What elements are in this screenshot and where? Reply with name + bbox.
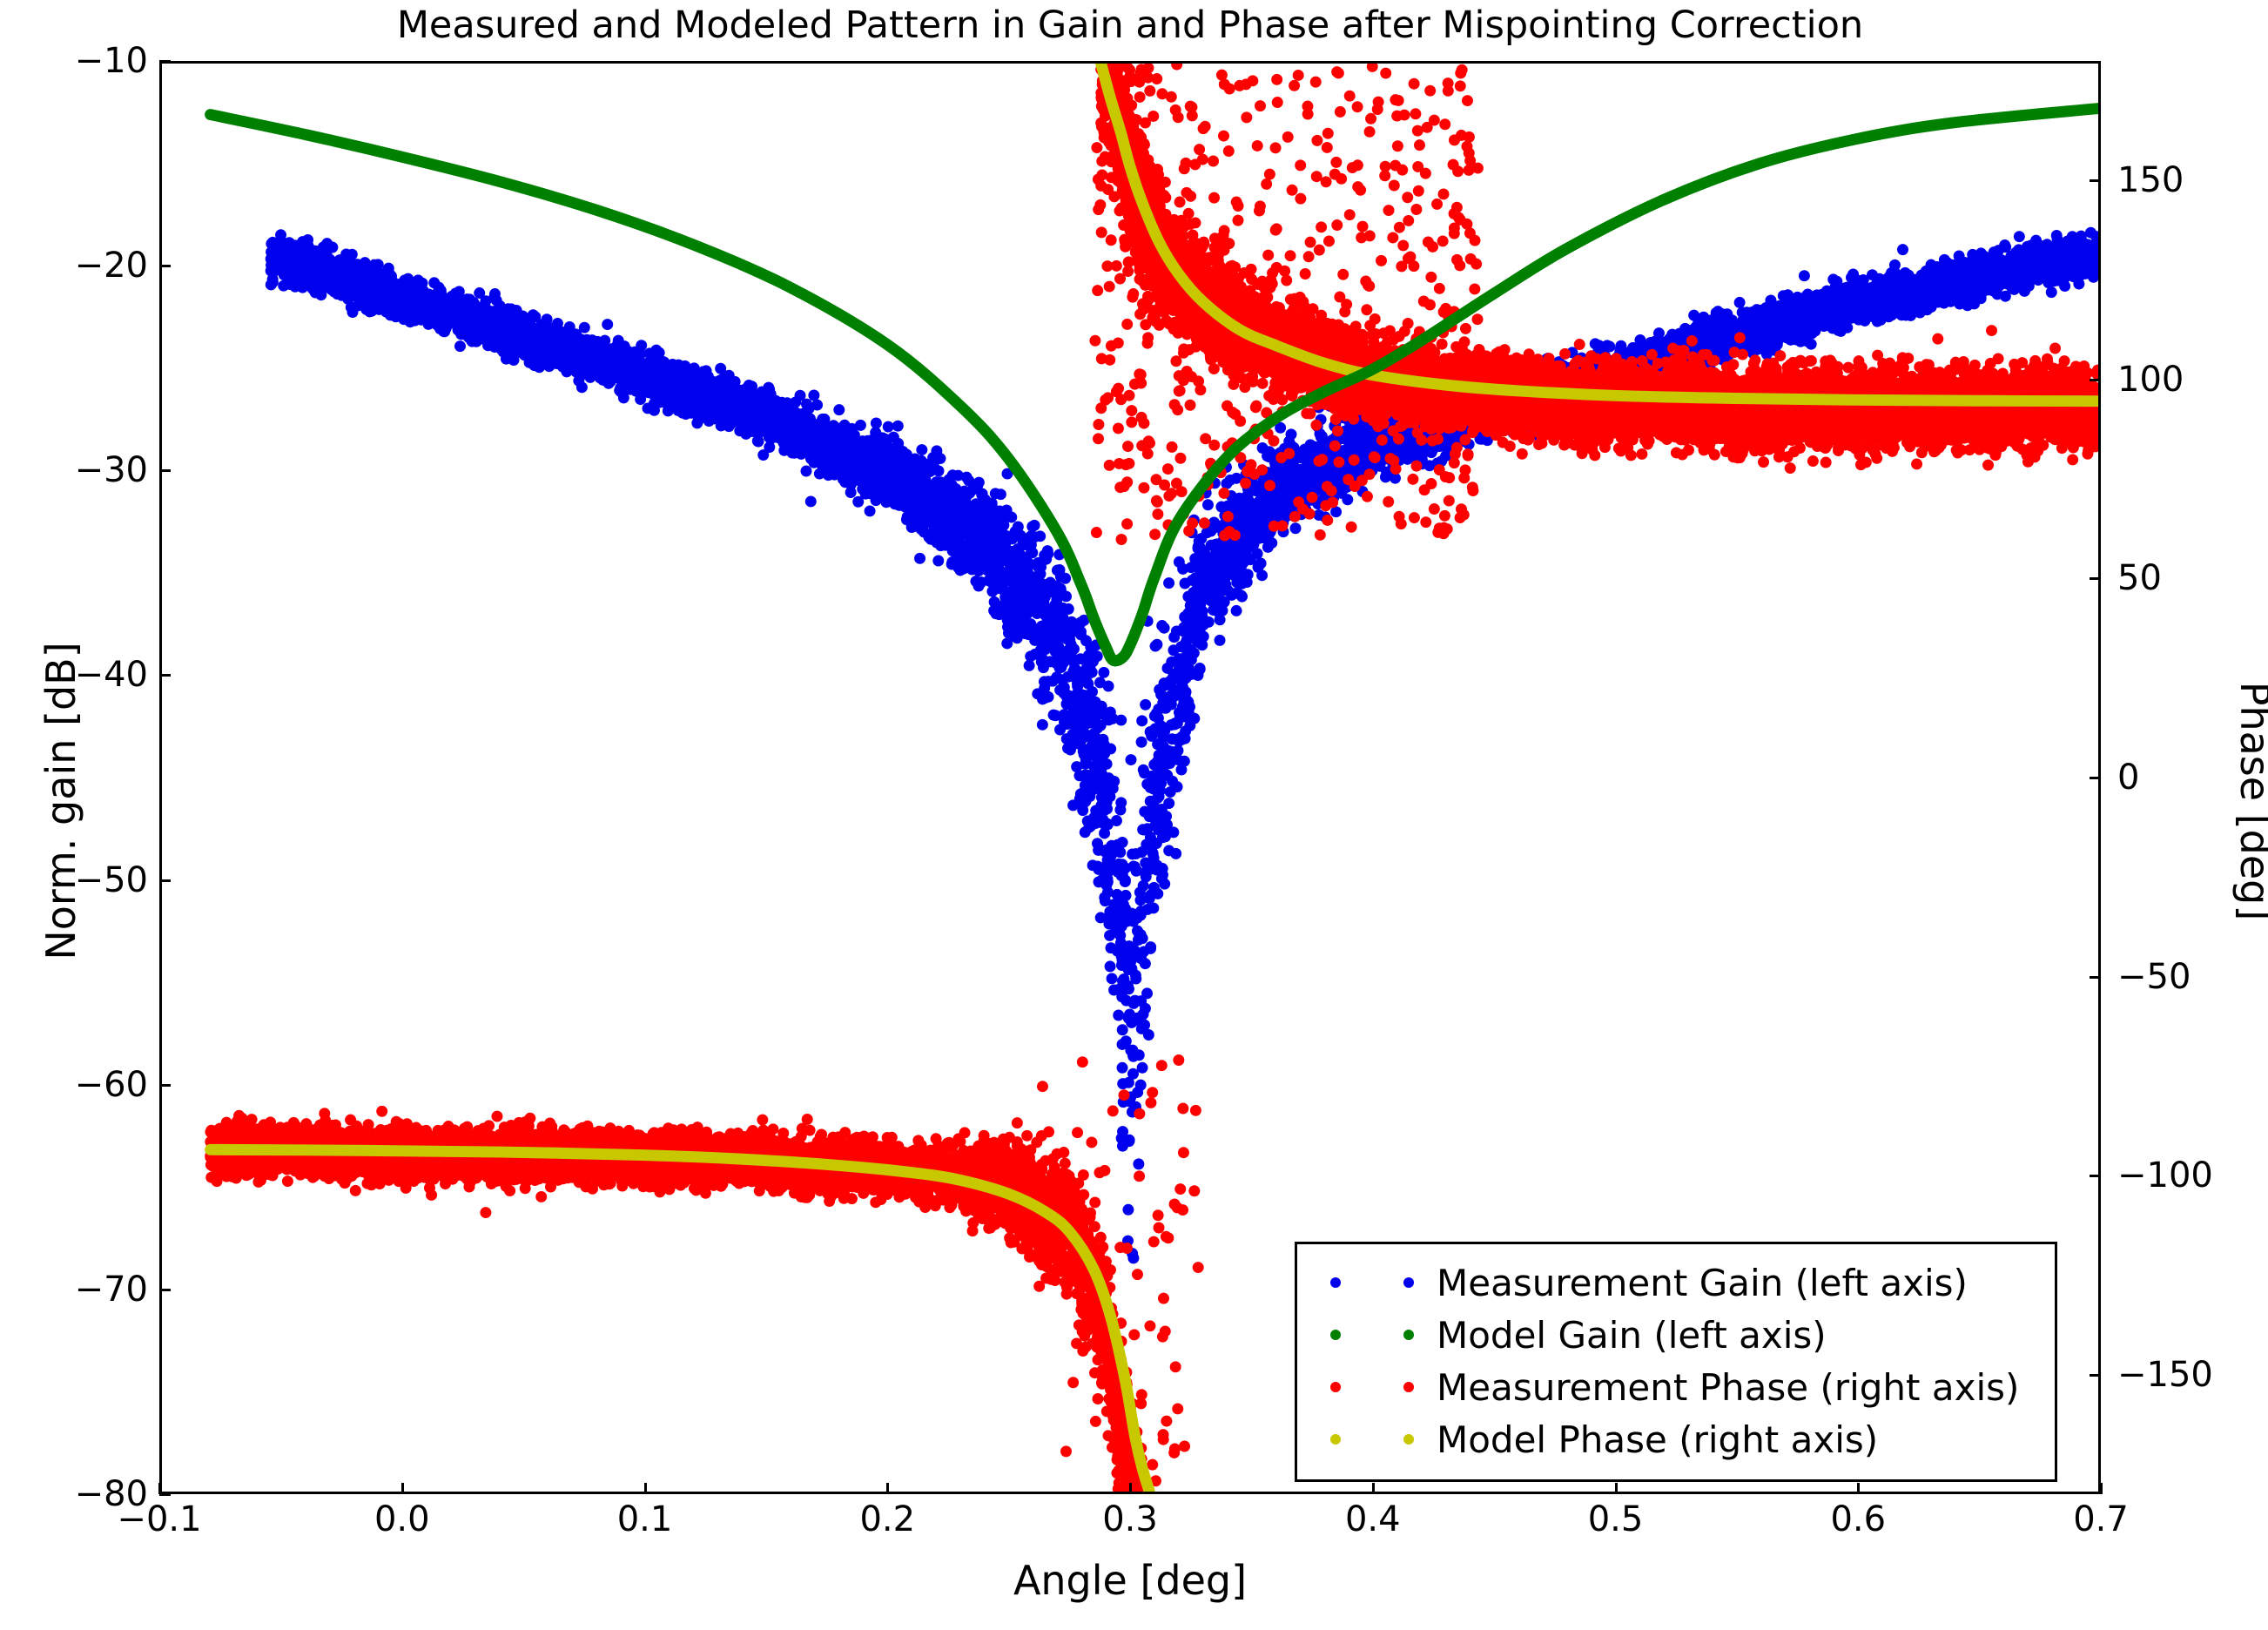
- x-tick-label: 0.5: [1546, 1499, 1686, 1539]
- legend-marker-group: [1330, 1434, 1414, 1445]
- x-tick-mark: [401, 1483, 404, 1494]
- legend-marker-group: [1330, 1382, 1414, 1392]
- x-tick-mark: [1372, 1483, 1375, 1494]
- y-tick-label-right: −100: [2117, 1155, 2222, 1196]
- legend-item[interactable]: Measurement Phase (right axis): [1297, 1361, 2055, 1413]
- legend-label: Model Phase (right axis): [1437, 1418, 1878, 1461]
- x-tick-mark: [644, 1483, 647, 1494]
- y-tick-mark-right: [2090, 976, 2101, 979]
- y-tick-mark-right: [2090, 777, 2101, 779]
- y-tick-label-right: −50: [2117, 957, 2222, 997]
- legend-item[interactable]: Model Phase (right axis): [1297, 1413, 2055, 1465]
- legend-item[interactable]: Measurement Gain (left axis): [1297, 1256, 2055, 1309]
- y-tick-label-left: −10: [0, 41, 148, 81]
- y-tick-label-right: 150: [2117, 160, 2222, 200]
- y-tick-mark-left: [159, 60, 171, 63]
- x-axis-label: Angle [deg]: [159, 1557, 2101, 1604]
- yellow-dot-icon: [1330, 1434, 1341, 1445]
- green-dot-icon: [1330, 1330, 1341, 1340]
- y-tick-mark-left: [159, 265, 171, 267]
- figure: Measured and Modeled Pattern in Gain and…: [0, 0, 2268, 1630]
- y-tick-mark-left: [159, 1289, 171, 1291]
- y-tick-label-right: −150: [2117, 1355, 2222, 1395]
- green-dot-icon: [1403, 1330, 1414, 1340]
- x-tick-label: 0.7: [2031, 1499, 2170, 1539]
- x-tick-mark: [2100, 1483, 2103, 1494]
- yellow-dot-icon: [1403, 1434, 1414, 1445]
- blue-dot-icon: [1330, 1277, 1341, 1288]
- legend-label: Measurement Phase (right axis): [1437, 1366, 2019, 1409]
- x-tick-label: 0.4: [1303, 1499, 1443, 1539]
- legend-label: Measurement Gain (left axis): [1437, 1262, 1968, 1304]
- y-tick-mark-right: [2090, 577, 2101, 580]
- x-tick-label: 0.2: [818, 1499, 957, 1539]
- y-tick-mark-right: [2090, 1175, 2101, 1177]
- x-tick-label: 0.6: [1788, 1499, 1928, 1539]
- y-tick-label-left: −30: [0, 450, 148, 490]
- y-tick-mark-right: [2090, 1374, 2101, 1377]
- blue-dot-icon: [1403, 1277, 1414, 1288]
- x-tick-mark: [1857, 1483, 1860, 1494]
- y-tick-mark-right: [2090, 179, 2101, 182]
- x-tick-label: 0.3: [1060, 1499, 1200, 1539]
- legend-label: Model Gain (left axis): [1437, 1314, 1827, 1357]
- y-tick-label-right: 100: [2117, 360, 2222, 400]
- y-tick-label-left: −70: [0, 1270, 148, 1310]
- x-tick-mark: [158, 1483, 161, 1494]
- x-tick-label: −0.1: [90, 1499, 229, 1539]
- legend[interactable]: Measurement Gain (left axis) Model Gain …: [1295, 1242, 2057, 1482]
- y-axis-label-right: Phase [deg]: [2231, 496, 2268, 1106]
- y-tick-mark-left: [159, 1084, 171, 1087]
- red-dot-icon: [1403, 1382, 1414, 1392]
- y-tick-label-right: 50: [2117, 558, 2222, 598]
- y-tick-label-right: 0: [2117, 758, 2222, 798]
- y-tick-mark-left: [159, 674, 171, 677]
- x-tick-mark: [886, 1483, 889, 1494]
- x-tick-mark: [1129, 1483, 1132, 1494]
- legend-item[interactable]: Model Gain (left axis): [1297, 1309, 2055, 1361]
- legend-marker-group: [1330, 1330, 1414, 1340]
- x-tick-label: 0.1: [575, 1499, 715, 1539]
- y-tick-mark-left: [159, 879, 171, 882]
- y-tick-label-left: −20: [0, 246, 148, 286]
- legend-marker-group: [1330, 1277, 1414, 1288]
- chart-title: Measured and Modeled Pattern in Gain and…: [159, 3, 2101, 47]
- y-tick-mark-left: [159, 469, 171, 472]
- x-tick-label: 0.0: [333, 1499, 472, 1539]
- red-dot-icon: [1330, 1382, 1341, 1392]
- y-tick-mark-right: [2090, 379, 2101, 381]
- x-tick-mark: [1615, 1483, 1618, 1494]
- y-axis-label-left: Norm. gain [dB]: [37, 496, 84, 1106]
